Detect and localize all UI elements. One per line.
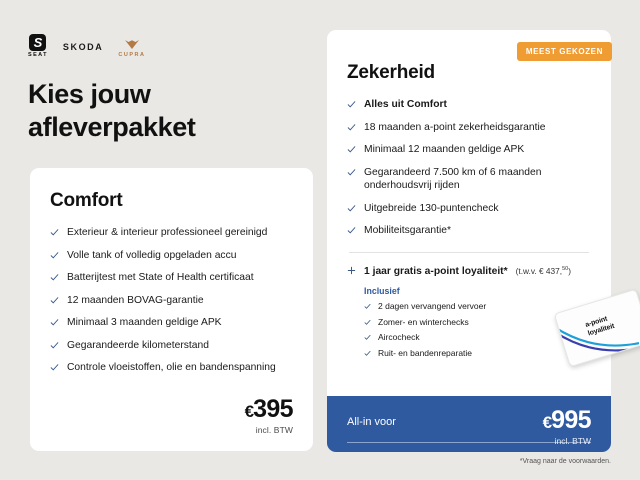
cupra-logo: CUPRA [118, 39, 145, 58]
page-root: S SEAT SKODA CUPRA Kies jouw afleverpakk… [0, 0, 640, 480]
allin-price: €995 [543, 408, 591, 433]
included-text: Zomer- en winterchecks [378, 317, 469, 328]
check-icon [347, 100, 356, 109]
zekerheid-title: Zekerheid [347, 62, 591, 84]
check-icon [50, 341, 59, 350]
footnote: *Vraag naar de voorwaarden. [520, 458, 611, 465]
price-amount: 395 [253, 395, 293, 423]
list-item: Minimaal 12 maanden geldige APK [347, 143, 591, 157]
list-item: Batterijtest met State of Health certifi… [50, 271, 293, 285]
check-icon [50, 296, 59, 305]
check-icon [364, 302, 371, 309]
list-item: Volle tank of volledig opgeladen accu [50, 249, 293, 263]
list-item: 12 maanden BOVAG-garantie [50, 294, 293, 308]
feature-text: 12 maanden BOVAG-garantie [67, 294, 204, 308]
included-list: 2 dagen vervangend vervoer Zomer- en win… [364, 301, 591, 359]
check-icon [50, 363, 59, 372]
check-icon [50, 273, 59, 282]
check-icon [347, 123, 356, 132]
feature-text: Mobiliteitsgarantie* [364, 224, 451, 238]
loyalty-row: 1 jaar gratis a-point loyaliteit* (t.w.v… [347, 265, 591, 277]
allin-price-block: €995 incl. BTW [543, 408, 591, 446]
included-text: Ruit- en bandenreparatie [378, 348, 472, 359]
check-icon [364, 318, 371, 325]
price-amount: 995 [551, 406, 591, 434]
brand-logo-bar: S SEAT SKODA CUPRA [28, 32, 145, 58]
list-item: Alles uit Comfort [347, 98, 591, 112]
check-icon [347, 145, 356, 154]
allin-price-bar[interactable]: All-in voor €995 incl. BTW [327, 396, 611, 452]
left-column: S SEAT SKODA CUPRA Kies jouw afleverpakk… [0, 0, 320, 480]
list-item: Uitgebreide 130-puntencheck [347, 202, 591, 216]
page-title: Kies jouw afleverpakket [28, 78, 298, 144]
zekerheid-package-card[interactable]: MEEST GEKOZEN Zekerheid Alles uit Comfor… [327, 30, 611, 452]
plus-icon [347, 266, 356, 275]
comfort-price-block: €395 incl. BTW [245, 397, 293, 435]
list-item: Gegarandeerde kilometerstand [50, 339, 293, 353]
feature-text: Gegarandeerde kilometerstand [67, 339, 209, 353]
divider [349, 252, 589, 253]
list-item: Ruit- en bandenreparatie [364, 348, 591, 359]
included-text: Aircocheck [378, 332, 420, 343]
feature-text: Minimaal 3 maanden geldige APK [67, 316, 222, 330]
comfort-feature-list: Exterieur & interieur professioneel gere… [50, 226, 293, 375]
comfort-package-card[interactable]: Comfort Exterieur & interieur profession… [30, 168, 313, 451]
list-item: Exterieur & interieur professioneel gere… [50, 226, 293, 240]
check-icon [364, 333, 371, 340]
loyalty-title: 1 jaar gratis a-point loyaliteit* [364, 266, 508, 277]
feature-text: Minimaal 12 maanden geldige APK [364, 143, 524, 157]
cupra-trident-icon [124, 39, 140, 51]
feature-text: Uitgebreide 130-puntencheck [364, 202, 499, 216]
feature-text: Volle tank of volledig opgeladen accu [67, 249, 236, 263]
loyalty-value-prefix: (t.w.v. € 437, [516, 266, 562, 276]
skoda-logo: SKODA [63, 40, 104, 58]
allin-row: All-in voor €995 incl. BTW [347, 408, 591, 446]
allin-price-note: incl. BTW [543, 436, 591, 446]
allin-label: All-in voor [347, 408, 396, 428]
check-icon [364, 349, 371, 356]
zekerheid-feature-list: Alles uit Comfort 18 maanden a-point zek… [347, 98, 591, 238]
loyalty-value: (t.w.v. € 437,50) [516, 266, 571, 276]
feature-text: Alles uit Comfort [364, 98, 447, 112]
cupra-wordmark: CUPRA [118, 52, 145, 58]
divider [347, 442, 591, 443]
currency-symbol: € [245, 402, 253, 421]
comfort-title: Comfort [50, 190, 293, 212]
list-item: Mobiliteitsgarantie* [347, 224, 591, 238]
list-item: Gegarandeerd 7.500 km of 6 maanden onder… [347, 166, 591, 193]
skoda-wordmark: SKODA [63, 42, 104, 52]
list-item: 2 dagen vervangend vervoer [364, 301, 591, 312]
loyalty-value-suffix: ) [568, 266, 571, 276]
feature-text: Exterieur & interieur professioneel gere… [67, 226, 267, 240]
feature-text: Controle vloeistoffen, olie en bandenspa… [67, 361, 276, 375]
check-icon [50, 318, 59, 327]
included-heading: Inclusief [364, 286, 591, 296]
included-text: 2 dagen vervangend vervoer [378, 301, 486, 312]
feature-text: 18 maanden a-point zekerheidsgarantie [364, 121, 545, 135]
check-icon [50, 228, 59, 237]
seat-logo: S SEAT [28, 34, 48, 58]
comfort-price-note: incl. BTW [245, 425, 293, 435]
feature-text: Gegarandeerd 7.500 km of 6 maanden onder… [364, 166, 591, 193]
status-badge: MEEST GEKOZEN [517, 42, 612, 61]
check-icon [347, 204, 356, 213]
list-item: Minimaal 3 maanden geldige APK [50, 316, 293, 330]
check-icon [347, 226, 356, 235]
check-icon [50, 251, 59, 260]
check-icon [347, 168, 356, 177]
list-item: 18 maanden a-point zekerheidsgarantie [347, 121, 591, 135]
comfort-price: €395 [245, 397, 293, 422]
seat-wordmark: SEAT [28, 52, 48, 58]
list-item: Controle vloeistoffen, olie en bandenspa… [50, 361, 293, 375]
currency-symbol: € [543, 413, 551, 432]
list-item: Aircocheck [364, 332, 591, 343]
feature-text: Batterijtest met State of Health certifi… [67, 271, 254, 285]
seat-mark-icon: S [29, 34, 46, 51]
